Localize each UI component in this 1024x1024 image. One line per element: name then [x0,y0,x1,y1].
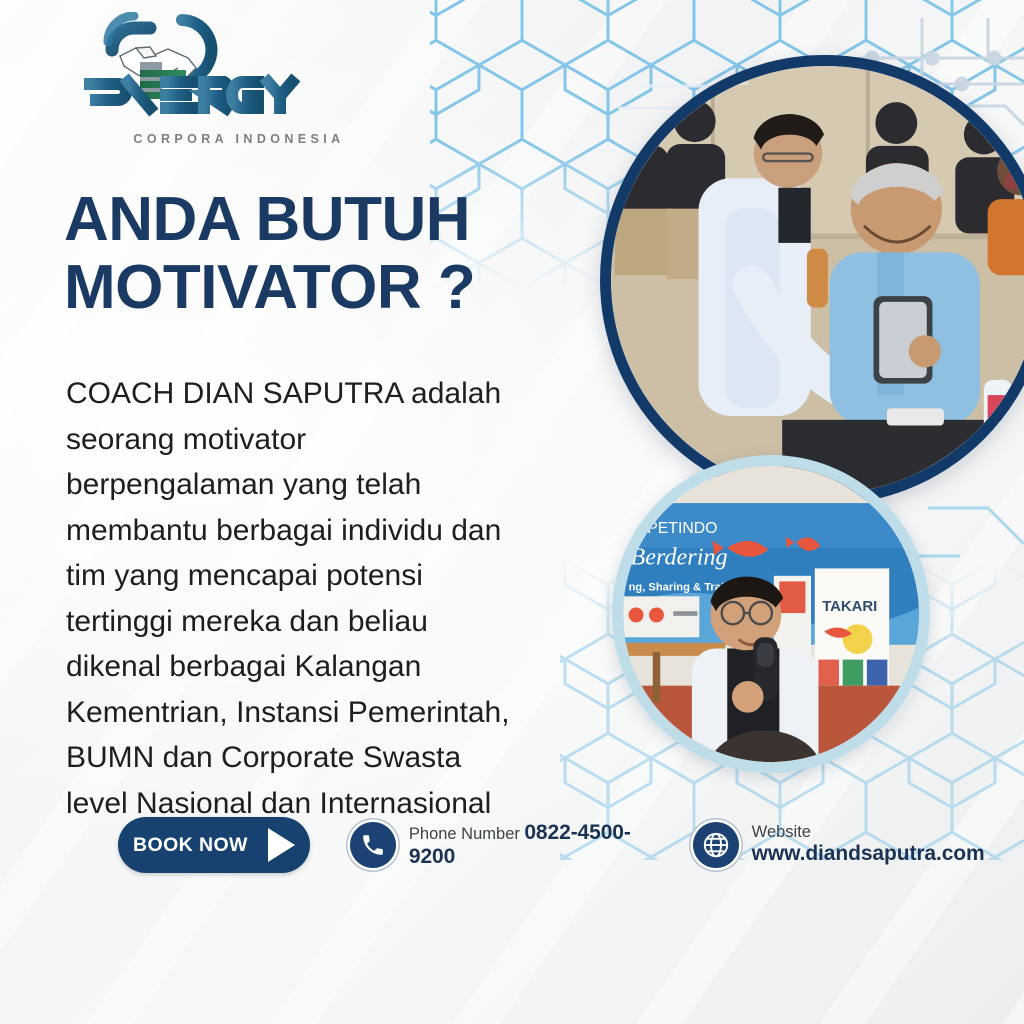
contact-phone-text: Phone Number 0822-4500-9200 [409,821,655,869]
handshake-icon [62,12,302,140]
contact-website-text: Website www.diandsaputra.com [752,823,1024,866]
brand-logo: CORPORA INDONESIA [62,12,302,140]
contact-website-value: www.diandsaputra.com [752,842,985,865]
play-arrow-icon [268,828,295,862]
contact-phone-label: Phone Number [409,825,520,843]
logo-subtitle: CORPORA INDONESIA [128,132,350,146]
book-now-button[interactable]: BOOK NOW [118,817,310,873]
cta-contact-row: BOOK NOW Phone Number 0822-4500-9200 [118,817,1024,873]
contact-website[interactable]: Website www.diandsaputra.com [693,822,1024,868]
phone-icon [350,822,396,868]
speaker-photo: PETINDO Berdering ng, Sharing & Training [612,455,930,773]
seminar-photo [600,55,1024,505]
headline-line-1: ANDA BUTUH [64,185,470,254]
banner-title-text: Berdering [630,544,727,571]
headline-line-2: MOTIVATOR ? [64,258,624,319]
body-paragraph: COACH DIAN SAPUTRA adalah seorang motiva… [66,371,518,826]
contact-phone[interactable]: Phone Number 0822-4500-9200 [350,821,655,869]
page-title: ANDA BUTUH MOTIVATOR ? [64,190,624,320]
poster-canvas: CORPORA INDONESIA ANDA BUTUH MOTIVATOR ?… [0,0,1024,1024]
seminar-photo-illustration [611,66,1024,494]
speaker-photo-illustration: PETINDO Berdering ng, Sharing & Training [623,466,919,762]
contact-website-label: Website [752,823,811,841]
product-label-text: TAKARI [822,599,877,615]
book-now-label: BOOK NOW [133,834,248,857]
banner-brand-text: PETINDO [647,520,717,537]
globe-icon [693,822,739,868]
